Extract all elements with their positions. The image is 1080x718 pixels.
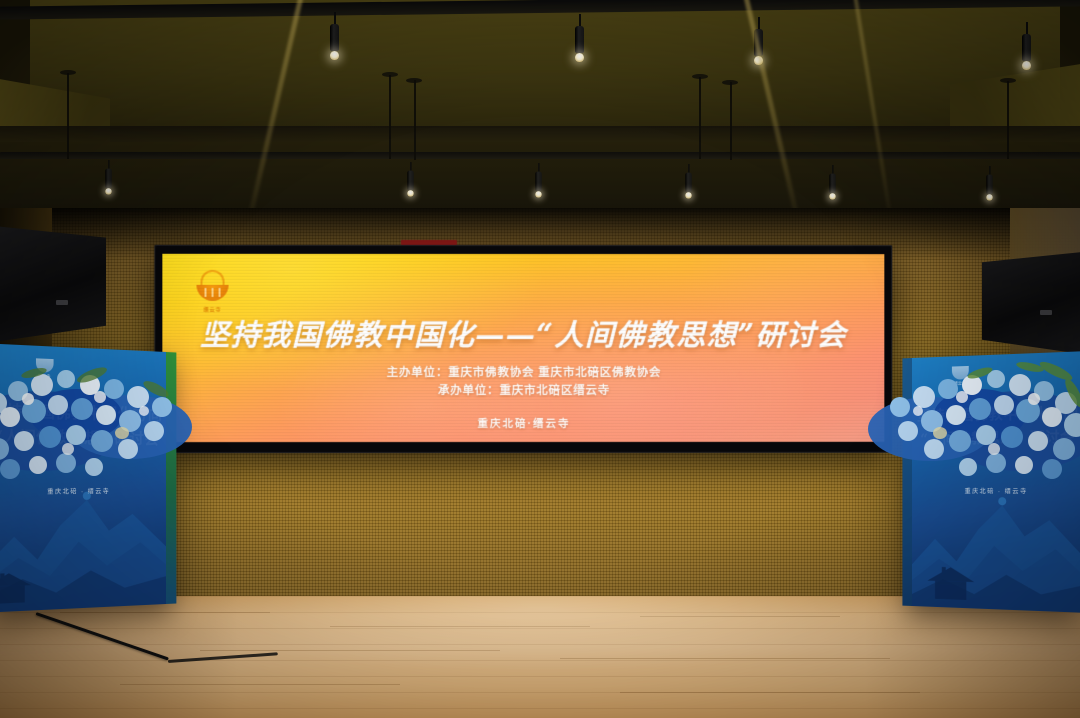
speaker-badge <box>1040 310 1052 315</box>
screen-place-line: 重庆北碚·缙云寺 <box>162 416 884 431</box>
conference-stage-photo: 缙云寺 坚持我国佛教中国化——“人间佛教思想”研讨会 主办单位：重庆市佛教协会 … <box>0 0 1080 718</box>
spotlight-icon <box>330 12 339 60</box>
spotlight-icon <box>1022 22 1031 70</box>
spotlight-icon <box>685 164 691 199</box>
host-line: 承办单位：重庆市北碚区缙云寺 <box>162 382 884 400</box>
spotlight-icon <box>407 162 413 197</box>
led-screen: 缙云寺 坚持我国佛教中国化——“人间佛教思想”研讨会 主办单位：重庆市佛教协会 … <box>162 254 884 442</box>
speaker-badge <box>56 300 68 305</box>
ceiling-hanger-rod <box>414 80 416 160</box>
flower-arrangement-right <box>860 345 1080 495</box>
lighting-track-rail-lower <box>0 152 1080 159</box>
spotlight-icon <box>986 166 992 201</box>
ceiling-face-panel <box>30 0 1060 128</box>
ceiling <box>0 0 1080 232</box>
flower-arrangement-left <box>0 345 210 495</box>
ceiling-hanger-rod <box>389 75 391 159</box>
spotlight-icon <box>535 163 541 198</box>
ceiling-hanger-rod <box>699 77 701 159</box>
spotlight-icon <box>829 165 835 200</box>
ceiling-hanger-rod <box>730 82 732 160</box>
screen-top-marker <box>401 240 457 245</box>
led-screen-frame: 缙云寺 坚持我国佛教中国化——“人间佛教思想”研讨会 主办单位：重庆市佛教协会 … <box>154 245 892 453</box>
temple-emblem: 缙云寺 <box>186 270 238 313</box>
ceiling-hanger-rod <box>67 73 69 159</box>
spotlight-icon <box>575 14 584 62</box>
speaker-right <box>982 252 1080 354</box>
screen-organizer-block: 主办单位：重庆市佛教协会 重庆市北碚区佛教协会 承办单位：重庆市北碚区缙云寺 <box>162 364 884 400</box>
spotlight-icon <box>105 160 111 195</box>
organizer-line: 主办单位：重庆市佛教协会 重庆市北碚区佛教协会 <box>162 364 884 382</box>
screen-title: 坚持我国佛教中国化——“人间佛教思想”研讨会 <box>162 312 884 354</box>
ceiling-hanger-rod <box>1007 81 1009 159</box>
lotus-icon <box>193 270 231 304</box>
speaker-left <box>0 226 106 342</box>
